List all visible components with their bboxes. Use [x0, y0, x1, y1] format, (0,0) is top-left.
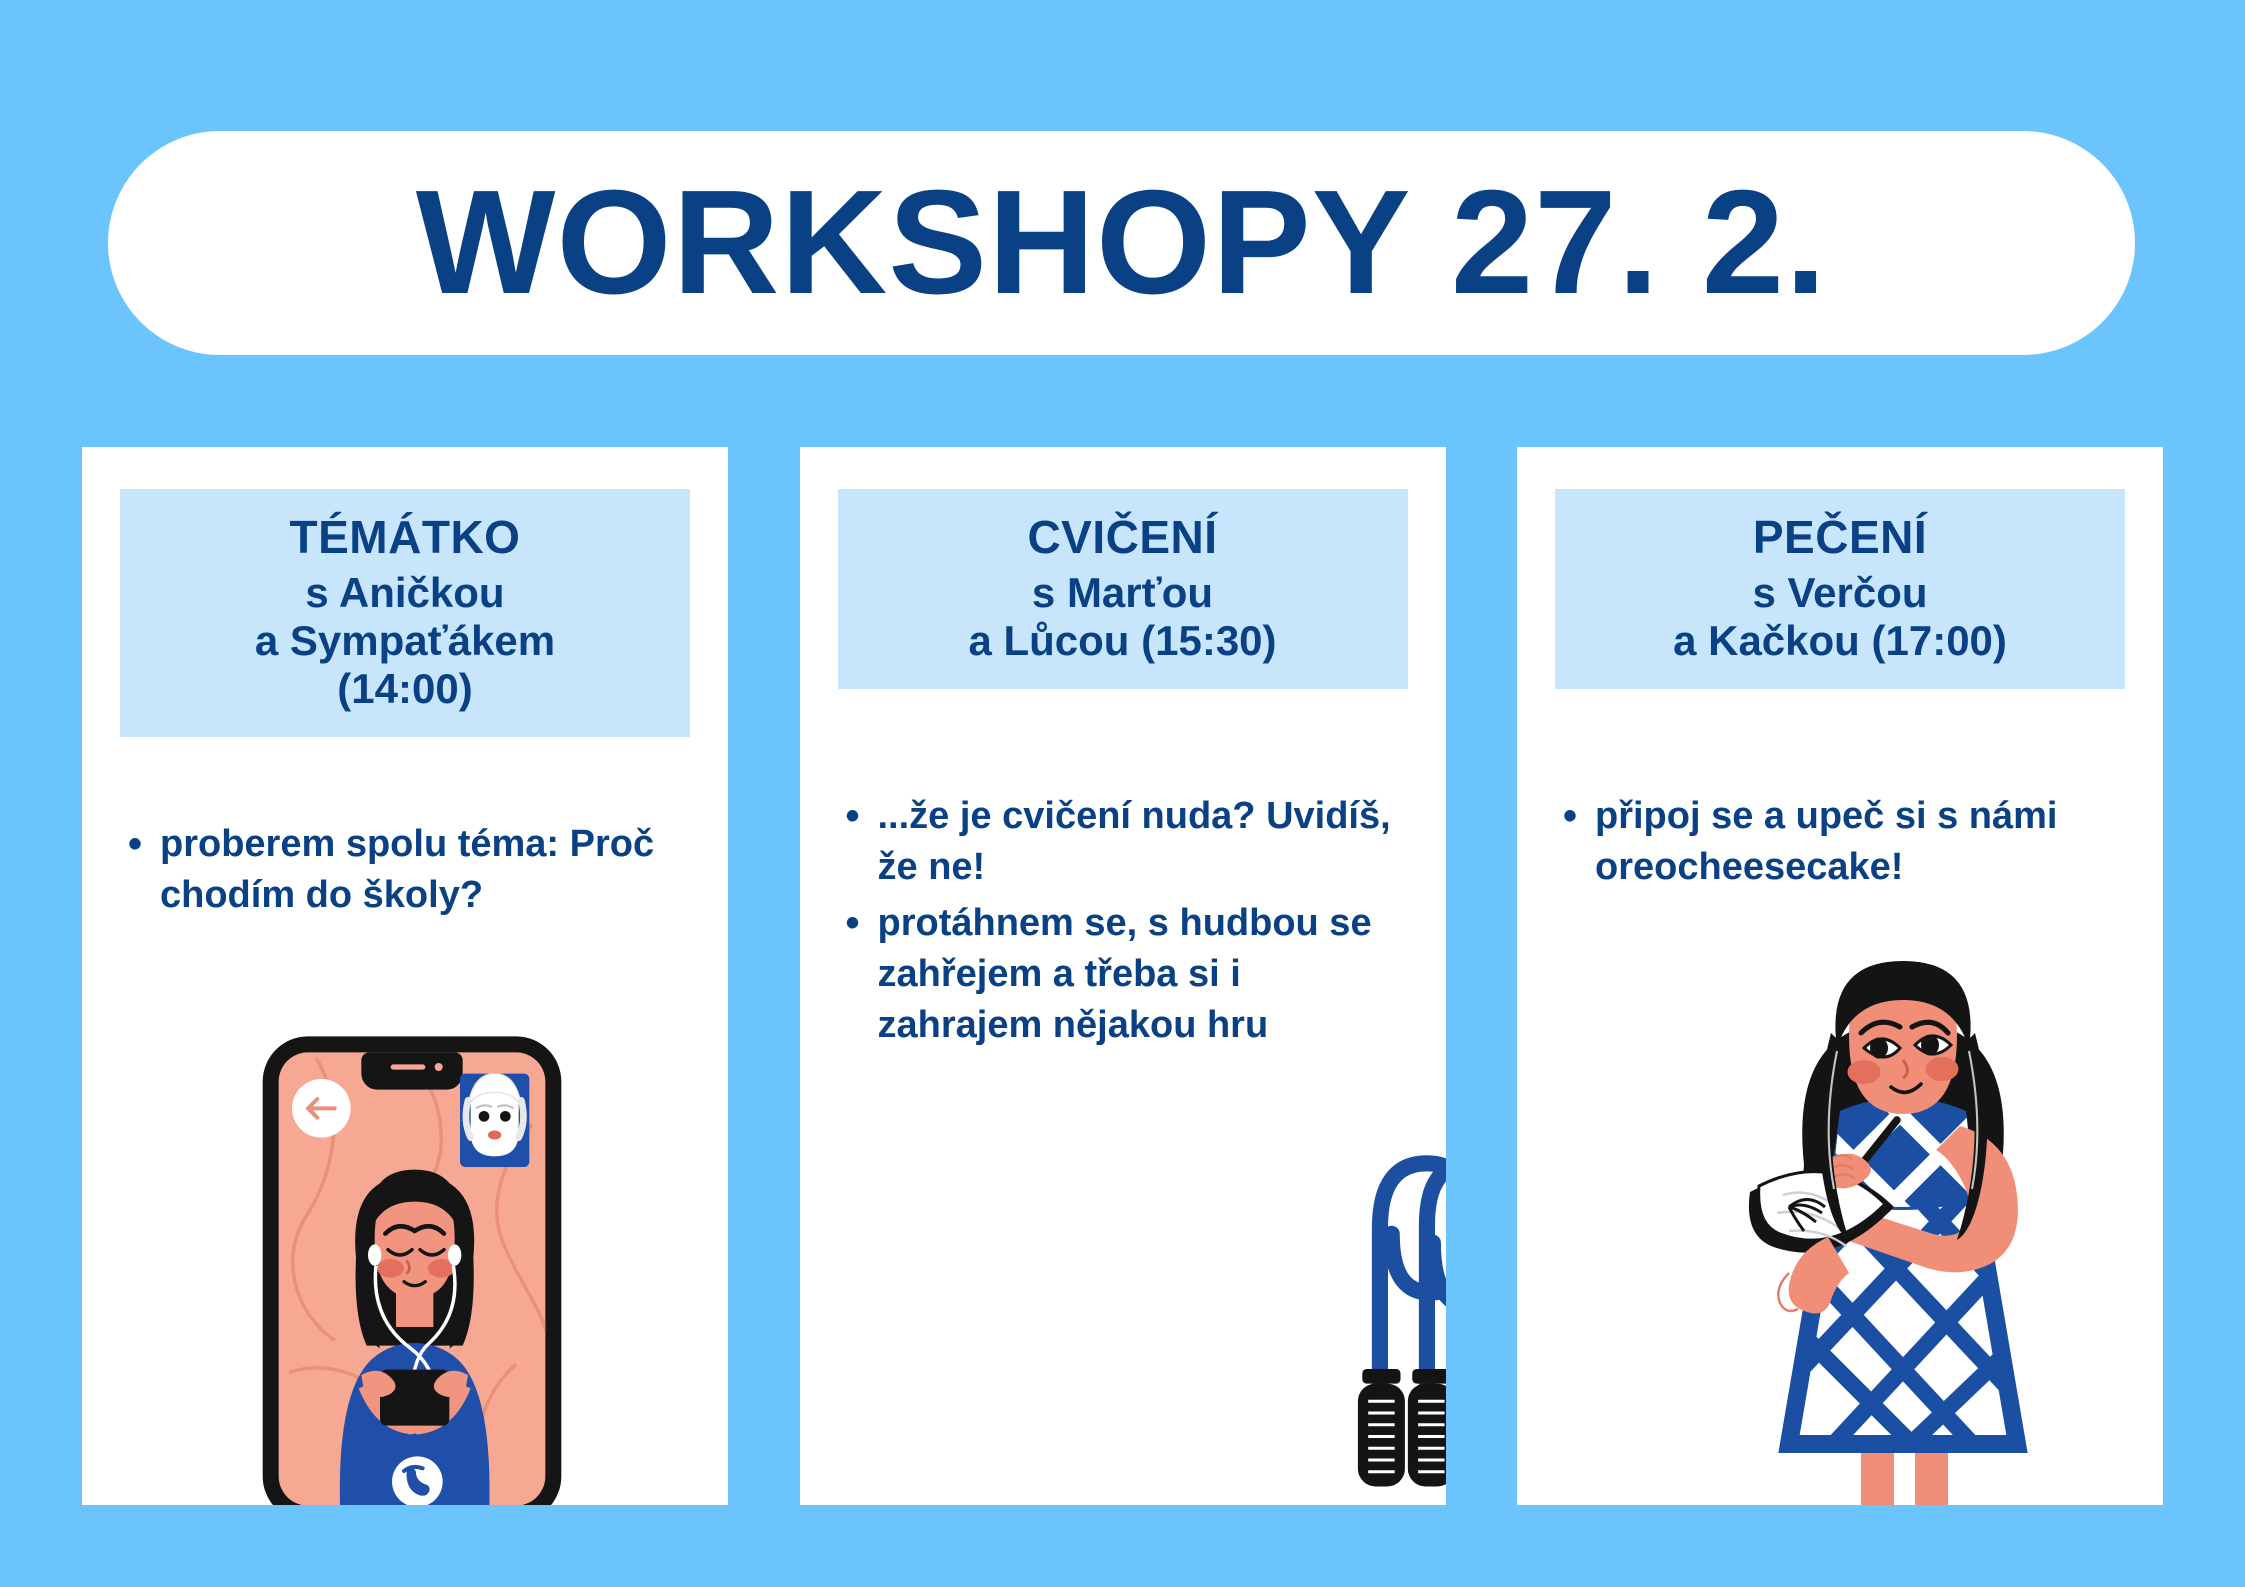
- card-title-tematko: TÉMÁTKO: [130, 511, 680, 563]
- card-subtitle-line3-tematko: a Sympaťákem: [130, 617, 680, 665]
- list-item: proberem spolu téma: Proč chodím do škol…: [126, 819, 686, 922]
- workshop-card-tematko: TÉMÁTKO s Aničkou a Sympaťákem (14:00) p…: [82, 447, 728, 1505]
- card-body-tematko: proberem spolu téma: Proč chodím do škol…: [126, 819, 686, 926]
- workshop-card-cviceni: CVIČENÍ s Marťou a Lůcou (15:30) ...že j…: [800, 447, 1446, 1505]
- title-banner: WORKSHOPY 27. 2.: [108, 131, 2135, 355]
- back-arrow-icon: [292, 1079, 351, 1138]
- list-item: připoj se a upeč si s námi oreocheesecak…: [1561, 791, 2121, 894]
- workshop-cards: TÉMÁTKO s Aničkou a Sympaťákem (14:00) p…: [82, 447, 2163, 1505]
- card-body-peceni: připoj se a upeč si s námi oreocheesecak…: [1561, 791, 2121, 898]
- card-body-cviceni: ...že je cvičení nuda? Uvidíš, že ne! pr…: [844, 791, 1404, 1055]
- list-item: protáhnem se, s hudbou se zahřejem a tře…: [844, 898, 1404, 1052]
- workshop-card-peceni: PEČENÍ s Verčou a Kačkou (17:00) připoj …: [1517, 447, 2163, 1505]
- self-view-window: [460, 1074, 529, 1167]
- card-subtitle-line3-peceni: a Kačkou (17:00): [1565, 617, 2115, 665]
- list-item: ...že je cvičení nuda? Uvidíš, že ne!: [844, 791, 1404, 894]
- baker-girl-illustration: [1723, 935, 2083, 1505]
- page-title: WORKSHOPY 27. 2.: [416, 169, 1827, 317]
- rope-handle-left: [1357, 1369, 1404, 1487]
- video-call-phone-illustration: [242, 1031, 662, 1505]
- card-subtitle-line3-cviceni: a Lůcou (15:30): [848, 617, 1398, 665]
- card-header-cviceni: CVIČENÍ s Marťou a Lůcou (15:30): [838, 489, 1408, 689]
- card-subtitle-line2-tematko: s Aničkou: [130, 569, 680, 617]
- card-header-tematko: TÉMÁTKO s Aničkou a Sympaťákem (14:00): [120, 489, 690, 737]
- card-title-cviceni: CVIČENÍ: [848, 511, 1398, 563]
- jump-rope-illustration: [1306, 1037, 1446, 1505]
- poster-root: WORKSHOPY 27. 2. TÉMÁTKO s Aničkou a Sym…: [0, 0, 2245, 1587]
- card-subtitle-line2-peceni: s Verčou: [1565, 569, 2115, 617]
- card-header-peceni: PEČENÍ s Verčou a Kačkou (17:00): [1555, 489, 2125, 689]
- call-button: [392, 1456, 443, 1505]
- rope-handle-right: [1407, 1369, 1445, 1487]
- card-subtitle-line2-cviceni: s Marťou: [848, 569, 1398, 617]
- card-subtitle-line4-tematko: (14:00): [130, 665, 680, 713]
- card-title-peceni: PEČENÍ: [1565, 511, 2115, 563]
